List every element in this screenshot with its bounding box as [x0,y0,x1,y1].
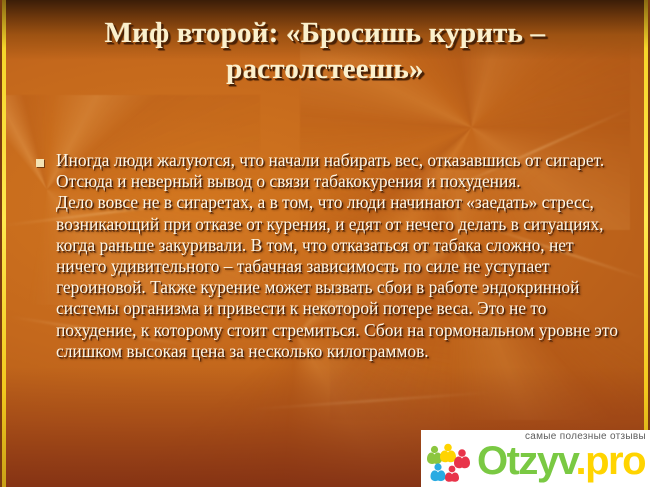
square-bullet-icon [36,159,44,167]
presentation-slide: Миф второй: «Бросишь курить – растолстее… [0,0,650,487]
watermark-logo[interactable]: самые полезные отзывы Otzyv.pro [421,430,650,487]
slide-title: Миф второй: «Бросишь курить – растолстее… [28,16,622,88]
slide-body-block: Иногда люди жалуются, что начали набират… [36,150,624,362]
watermark-brand: Otzyv.pro [477,441,645,481]
slide-body-text: Иногда люди жалуются, что начали набират… [56,150,624,362]
left-gold-border [2,0,6,487]
otzyv-people-icon [425,442,473,482]
right-gold-border [644,0,648,487]
brand-name-suffix: .pro [575,439,645,483]
brand-name-primary: Otzyv [477,439,575,483]
